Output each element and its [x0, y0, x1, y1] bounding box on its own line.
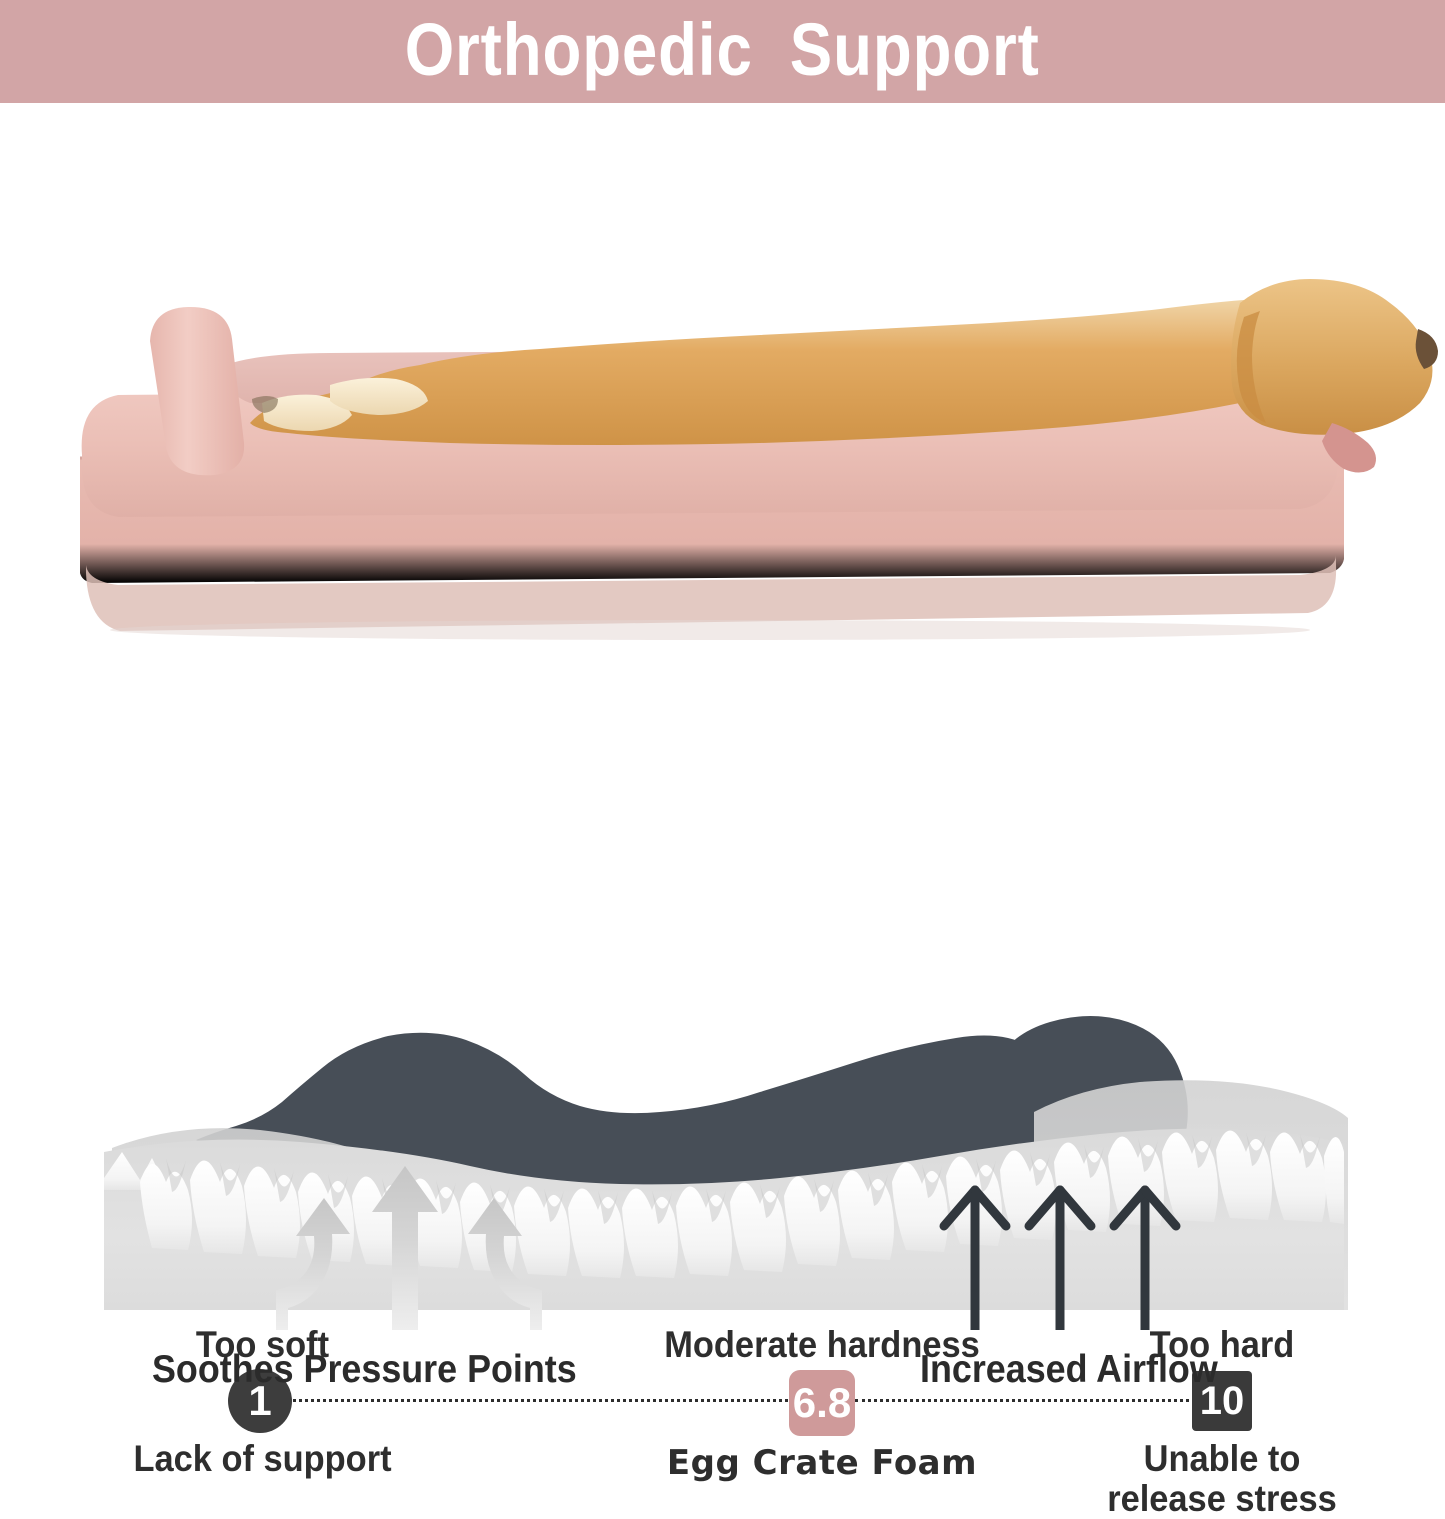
airflow-arrows: [944, 1190, 1176, 1330]
caption-soothes-pressure-points: Soothes Pressure Points: [152, 1348, 577, 1392]
scale-badge-6-8: 6.8: [789, 1370, 855, 1436]
hardness-scale-section: Too soft 1 Lack of support Moderate hard…: [0, 648, 1445, 896]
header-banner: Orthopedic Support: [0, 0, 1445, 103]
scale-bottom-label-unable-line2: release stress: [1083, 1479, 1362, 1519]
caption-increased-airflow: Increased Airflow: [920, 1348, 1218, 1392]
scale-bottom-label-lack-of-support: Lack of support: [121, 1439, 405, 1479]
scale-bottom-too-soft: Lack of support: [110, 1439, 415, 1479]
page-title: Orthopedic Support: [405, 13, 1040, 87]
scale-dotted-line-right: [855, 1399, 1195, 1402]
scale-bottom-moderate: Egg Crate Foam: [622, 1445, 1022, 1482]
scale-dotted-line-left: [288, 1399, 788, 1402]
scale-bottom-label-unable-line1: Unable to: [1083, 1439, 1362, 1479]
foam-cross-section-diagram: [0, 890, 1445, 1330]
scale-bottom-too-hard: Unable to release stress: [1072, 1439, 1372, 1519]
scale-bottom-label-egg-crate-foam: Egg Crate Foam: [622, 1445, 1022, 1482]
hero-product-photo: [0, 103, 1445, 648]
